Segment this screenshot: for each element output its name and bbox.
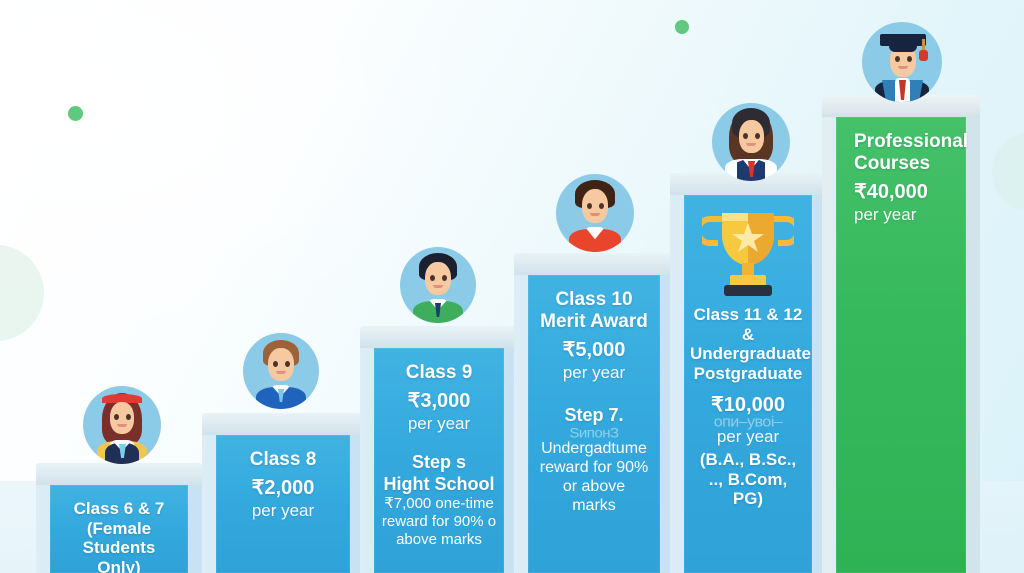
green-dot-left-decoration (68, 106, 83, 121)
bar-title: Class 8 (222, 449, 344, 471)
bar-title: Class 10 Merit Award (534, 289, 654, 333)
bar-face: Class 11 & 12 & Undergraduate Postgradua… (684, 195, 812, 573)
bar-period: per year (380, 414, 498, 434)
face (582, 189, 608, 223)
bar-face: Class 8 ₹2,000 per year (216, 435, 350, 573)
green-dot-top-decoration (675, 20, 689, 34)
female-student-avatar (83, 386, 161, 464)
eye-left (114, 414, 119, 420)
eye-right (599, 203, 604, 209)
eye-left (430, 275, 435, 281)
bar-top-cap (360, 326, 518, 348)
eye-left (587, 203, 592, 209)
bar-period: per year (854, 205, 960, 225)
bar-title: Class 11 & 12 & Undergraduate Postgradua… (690, 305, 806, 384)
bar-amount: ₹3,000 (380, 390, 498, 414)
infographic-canvas: Class 6 & 7 (Female Students Only) ₹2,00… (0, 0, 1024, 573)
bar-sub-heading: Step ѕ Hight School (380, 452, 498, 495)
bar-amount: ₹2,000 (222, 477, 344, 501)
face (268, 348, 294, 381)
mouth (590, 213, 600, 216)
mouth (276, 371, 286, 374)
bar-face: Class 10 Merit Award ₹5,000 per year Ste… (528, 275, 660, 573)
boy-red-sweater-avatar (556, 174, 634, 252)
bar-face: Class 9 ₹3,000 per year Step ѕ Hight Sch… (374, 348, 504, 573)
bar-amount: ₹40,000 (854, 181, 960, 205)
bar-sub-heading: Step 7. (534, 405, 654, 427)
step-bar-class-11-12-undergraduate[interactable]: Class 11 & 12 & Undergraduate Postgradua… (670, 173, 826, 573)
pale-circle-right-decoration (992, 132, 1024, 212)
mouth (117, 424, 127, 427)
bar-sub-body: ₹7,000 one-time reward for 90% o above m… (380, 495, 498, 549)
graduate-avatar (862, 22, 942, 102)
eye-right (442, 275, 447, 281)
bar-amount: ₹5,000 (534, 339, 654, 363)
mouth (746, 143, 756, 146)
mouth (898, 66, 908, 69)
eye-left (743, 133, 748, 139)
step-bar-class-8[interactable]: Class 8 ₹2,000 per year (202, 413, 364, 573)
bar-title: Professional Courses (854, 131, 960, 175)
step-bar-class-6-7[interactable]: Class 6 & 7 (Female Students Only) ₹2,00… (36, 463, 202, 573)
bar-subsection: Step ѕ Hight School ₹7,000 one-time rewa… (380, 452, 498, 549)
eye-right (907, 56, 912, 62)
boy-green-sweater-avatar (400, 247, 476, 323)
bar-subsection: Step 7. ЅипонЗ Undergadtume reward for 9… (534, 405, 654, 515)
eye-right (755, 133, 760, 139)
bar-period: per year (222, 501, 344, 521)
bar-face: Class 6 & 7 (Female Students Only) ₹2,00… (50, 485, 188, 573)
step-bar-professional-courses[interactable]: Professional Courses ₹40,000 per year (822, 95, 980, 573)
trophy-icon (690, 205, 806, 301)
bar-top-cap (36, 463, 202, 485)
female-student-tie-avatar (712, 103, 790, 181)
tassel-knot (919, 50, 928, 61)
mortarboard-crown (889, 40, 917, 52)
eye-left (273, 361, 278, 367)
step-bar-class-10-merit-award[interactable]: Class 10 Merit Award ₹5,000 per year Ste… (514, 253, 674, 573)
eye-right (126, 414, 131, 420)
eye-left (895, 56, 900, 62)
pale-circle-left-decoration (0, 245, 44, 341)
mouth (433, 285, 443, 288)
bar-sub-body: (B.A., B.Sc., .., B.Com, PG) (690, 450, 806, 509)
bar-period: per year (690, 427, 806, 447)
boy-blue-sweater-avatar (243, 333, 319, 409)
bar-sub-body: Undergadtume reward for 90% or above mar… (534, 439, 654, 516)
bar-face: Professional Courses ₹40,000 per year (836, 117, 966, 573)
bar-top-cap (202, 413, 364, 435)
eye-right (285, 361, 290, 367)
bar-top-cap (514, 253, 674, 275)
bar-title: Class 6 & 7 (Female Students Only) (56, 499, 182, 573)
bar-title: Class 9 (380, 362, 498, 384)
face (425, 262, 451, 295)
artifact-text: ЅипонЗ (534, 426, 654, 442)
step-bar-class-9[interactable]: Class 9 ₹3,000 per year Step ѕ Hight Sch… (360, 326, 518, 573)
bar-period: per year (534, 363, 654, 383)
